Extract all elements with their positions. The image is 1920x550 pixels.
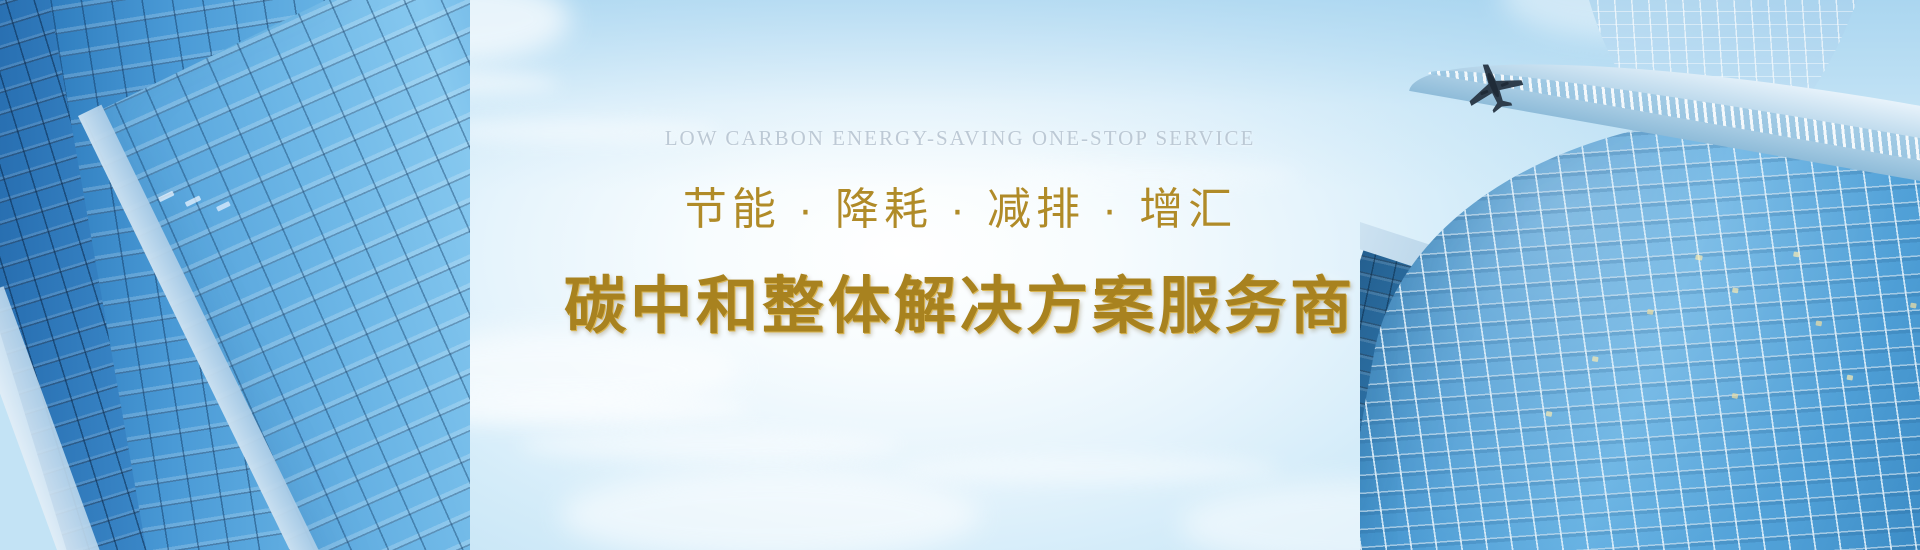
banner-copy: LOW CARBON ENERGY-SAVING ONE-STOP SERVIC… bbox=[0, 0, 1920, 550]
banner-tagline-text: 节能 · 降耗 · 减排 · 增汇 bbox=[683, 173, 1237, 237]
hero-banner: LOW CARBON ENERGY-SAVING ONE-STOP SERVIC… bbox=[0, 0, 1920, 550]
banner-eyebrow-text: LOW CARBON ENERGY-SAVING ONE-STOP SERVIC… bbox=[665, 126, 1256, 151]
banner-headline-text: 碳中和整体解决方案服务商 bbox=[564, 255, 1356, 345]
